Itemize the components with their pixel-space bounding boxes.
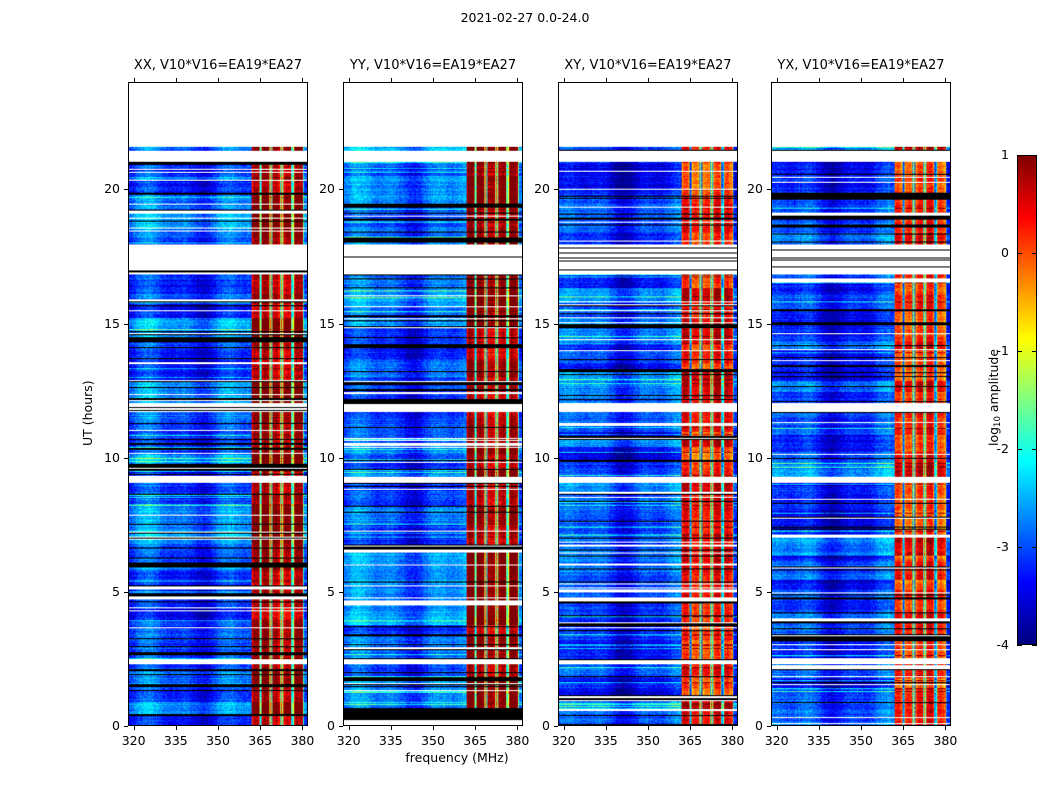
- y-tick-mark: [339, 189, 343, 190]
- waterfall-image-xx: [129, 83, 307, 725]
- x-tick-mark-top: [517, 78, 518, 82]
- x-tick-mark: [349, 726, 350, 730]
- colorbar-tick-mark: [1032, 547, 1037, 548]
- colorbar-tick-mark: [1032, 449, 1037, 450]
- x-tick-label: 320: [329, 733, 369, 748]
- y-tick-mark: [767, 324, 771, 325]
- x-tick-mark-top: [690, 78, 691, 82]
- x-tick-mark-top: [433, 78, 434, 82]
- x-tick-label: 380: [497, 733, 537, 748]
- waterfall-image-yy: [344, 83, 522, 725]
- x-tick-mark-top: [349, 78, 350, 82]
- y-tick-mark: [124, 726, 128, 727]
- colorbar-tick-mark-left: [1017, 351, 1022, 352]
- y-tick-label: 20: [86, 183, 120, 195]
- colorbar-label-suffix: amplitude: [986, 349, 1001, 416]
- x-tick-mark: [648, 726, 649, 730]
- x-tick-label: 380: [712, 733, 752, 748]
- x-tick-mark-top: [606, 78, 607, 82]
- x-tick-label: 380: [925, 733, 965, 748]
- colorbar-tick-mark: [1032, 253, 1037, 254]
- y-tick-label: 15: [516, 318, 550, 330]
- x-tick-label: 335: [371, 733, 411, 748]
- y-tick-label: 5: [301, 586, 335, 598]
- colorbar-tick-label: 1: [979, 149, 1009, 161]
- y-tick-label: 15: [729, 318, 763, 330]
- waterfall-panel-xy[interactable]: [558, 82, 738, 726]
- y-tick-label: 10: [516, 452, 550, 464]
- panel-title-yy: YY, V10*V16=EA19*EA27: [343, 58, 523, 73]
- x-tick-mark: [475, 726, 476, 730]
- x-tick-mark-top: [861, 78, 862, 82]
- y-tick-label: 0: [516, 720, 550, 732]
- y-tick-mark: [339, 726, 343, 727]
- y-tick-label: 10: [301, 452, 335, 464]
- x-tick-label: 350: [413, 733, 453, 748]
- x-tick-mark-top: [903, 78, 904, 82]
- x-tick-mark: [690, 726, 691, 730]
- x-tick-mark: [861, 726, 862, 730]
- waterfall-panel-yy[interactable]: [343, 82, 523, 726]
- figure-suptitle: 2021-02-27 0.0-24.0: [0, 10, 1050, 25]
- x-tick-label: 350: [628, 733, 668, 748]
- y-tick-mark: [554, 324, 558, 325]
- x-tick-mark: [945, 726, 946, 730]
- x-tick-mark-top: [176, 78, 177, 82]
- x-tick-mark-top: [945, 78, 946, 82]
- x-tick-label: 335: [156, 733, 196, 748]
- panel-title-xy: XY, V10*V16=EA19*EA27: [558, 58, 738, 73]
- x-tick-label: 380: [282, 733, 322, 748]
- y-tick-label: 15: [301, 318, 335, 330]
- y-tick-mark: [124, 189, 128, 190]
- x-tick-label: 350: [198, 733, 238, 748]
- y-tick-mark: [767, 726, 771, 727]
- y-tick-mark: [554, 458, 558, 459]
- waterfall-image-xy: [559, 83, 737, 725]
- y-tick-mark: [554, 726, 558, 727]
- x-tick-label: 335: [586, 733, 626, 748]
- x-tick-mark: [433, 726, 434, 730]
- y-axis-label: UT (hours): [80, 380, 95, 446]
- y-tick-mark: [767, 592, 771, 593]
- colorbar-label: log10 amplitude: [986, 349, 1001, 446]
- x-tick-mark-top: [777, 78, 778, 82]
- x-tick-mark: [176, 726, 177, 730]
- y-tick-mark: [554, 189, 558, 190]
- y-tick-label: 10: [729, 452, 763, 464]
- x-tick-mark: [391, 726, 392, 730]
- y-tick-label: 20: [516, 183, 550, 195]
- colorbar-tick-label: 0: [979, 247, 1009, 259]
- colorbar-tick-mark-left: [1017, 645, 1022, 646]
- x-tick-mark-top: [732, 78, 733, 82]
- x-tick-label: 365: [883, 733, 923, 748]
- colorbar-tick-label: -3: [979, 541, 1009, 553]
- y-tick-mark: [124, 458, 128, 459]
- x-tick-mark: [606, 726, 607, 730]
- y-tick-label: 5: [729, 586, 763, 598]
- colorbar-tick-mark-left: [1017, 253, 1022, 254]
- y-tick-mark: [339, 324, 343, 325]
- y-tick-label: 0: [86, 720, 120, 732]
- x-tick-mark: [260, 726, 261, 730]
- colorbar-tick-mark-left: [1017, 547, 1022, 548]
- x-tick-label: 320: [114, 733, 154, 748]
- figure-canvas: 2021-02-27 0.0-24.0 XX, V10*V16=EA19*EA2…: [0, 0, 1050, 800]
- x-tick-label: 320: [544, 733, 584, 748]
- colorbar-tick-mark: [1032, 645, 1037, 646]
- y-tick-mark: [124, 324, 128, 325]
- waterfall-image-yx: [772, 83, 950, 725]
- x-tick-mark-top: [475, 78, 476, 82]
- x-tick-mark-top: [260, 78, 261, 82]
- y-tick-mark: [124, 592, 128, 593]
- colorbar-gradient: [1018, 156, 1036, 644]
- x-tick-mark-top: [648, 78, 649, 82]
- waterfall-panel-yx[interactable]: [771, 82, 951, 726]
- x-tick-mark-top: [564, 78, 565, 82]
- colorbar-tick-mark: [1032, 155, 1037, 156]
- y-tick-label: 0: [729, 720, 763, 732]
- colorbar-label-prefix: log: [986, 427, 1001, 446]
- y-tick-label: 20: [729, 183, 763, 195]
- x-tick-mark: [819, 726, 820, 730]
- colorbar-tick-mark-left: [1017, 155, 1022, 156]
- colorbar-tick-mark-left: [1017, 449, 1022, 450]
- y-tick-label: 10: [86, 452, 120, 464]
- x-axis-label: frequency (MHz): [307, 750, 607, 765]
- x-tick-mark: [218, 726, 219, 730]
- colorbar-tick-label: -4: [979, 639, 1009, 651]
- y-tick-label: 5: [86, 586, 120, 598]
- colorbar-tick-mark: [1032, 351, 1037, 352]
- colorbar-label-subscript: 10: [993, 416, 1003, 427]
- x-tick-mark-top: [218, 78, 219, 82]
- x-tick-mark-top: [302, 78, 303, 82]
- panel-title-xx: XX, V10*V16=EA19*EA27: [128, 58, 308, 73]
- x-tick-label: 350: [841, 733, 881, 748]
- y-tick-label: 15: [86, 318, 120, 330]
- y-tick-label: 5: [516, 586, 550, 598]
- x-tick-mark: [134, 726, 135, 730]
- x-tick-label: 320: [757, 733, 797, 748]
- x-tick-mark-top: [391, 78, 392, 82]
- y-tick-mark: [554, 592, 558, 593]
- x-tick-mark-top: [134, 78, 135, 82]
- y-tick-mark: [767, 458, 771, 459]
- colorbar: [1017, 155, 1037, 645]
- x-tick-label: 335: [799, 733, 839, 748]
- x-tick-mark: [777, 726, 778, 730]
- y-tick-label: 20: [301, 183, 335, 195]
- x-tick-mark-top: [819, 78, 820, 82]
- x-tick-label: 365: [455, 733, 495, 748]
- x-tick-mark: [903, 726, 904, 730]
- y-tick-label: 0: [301, 720, 335, 732]
- y-tick-mark: [339, 458, 343, 459]
- waterfall-panel-xx[interactable]: [128, 82, 308, 726]
- y-tick-mark: [767, 189, 771, 190]
- x-tick-label: 365: [240, 733, 280, 748]
- x-tick-label: 365: [670, 733, 710, 748]
- y-tick-mark: [339, 592, 343, 593]
- x-tick-mark: [564, 726, 565, 730]
- panel-title-yx: YX, V10*V16=EA19*EA27: [771, 58, 951, 73]
